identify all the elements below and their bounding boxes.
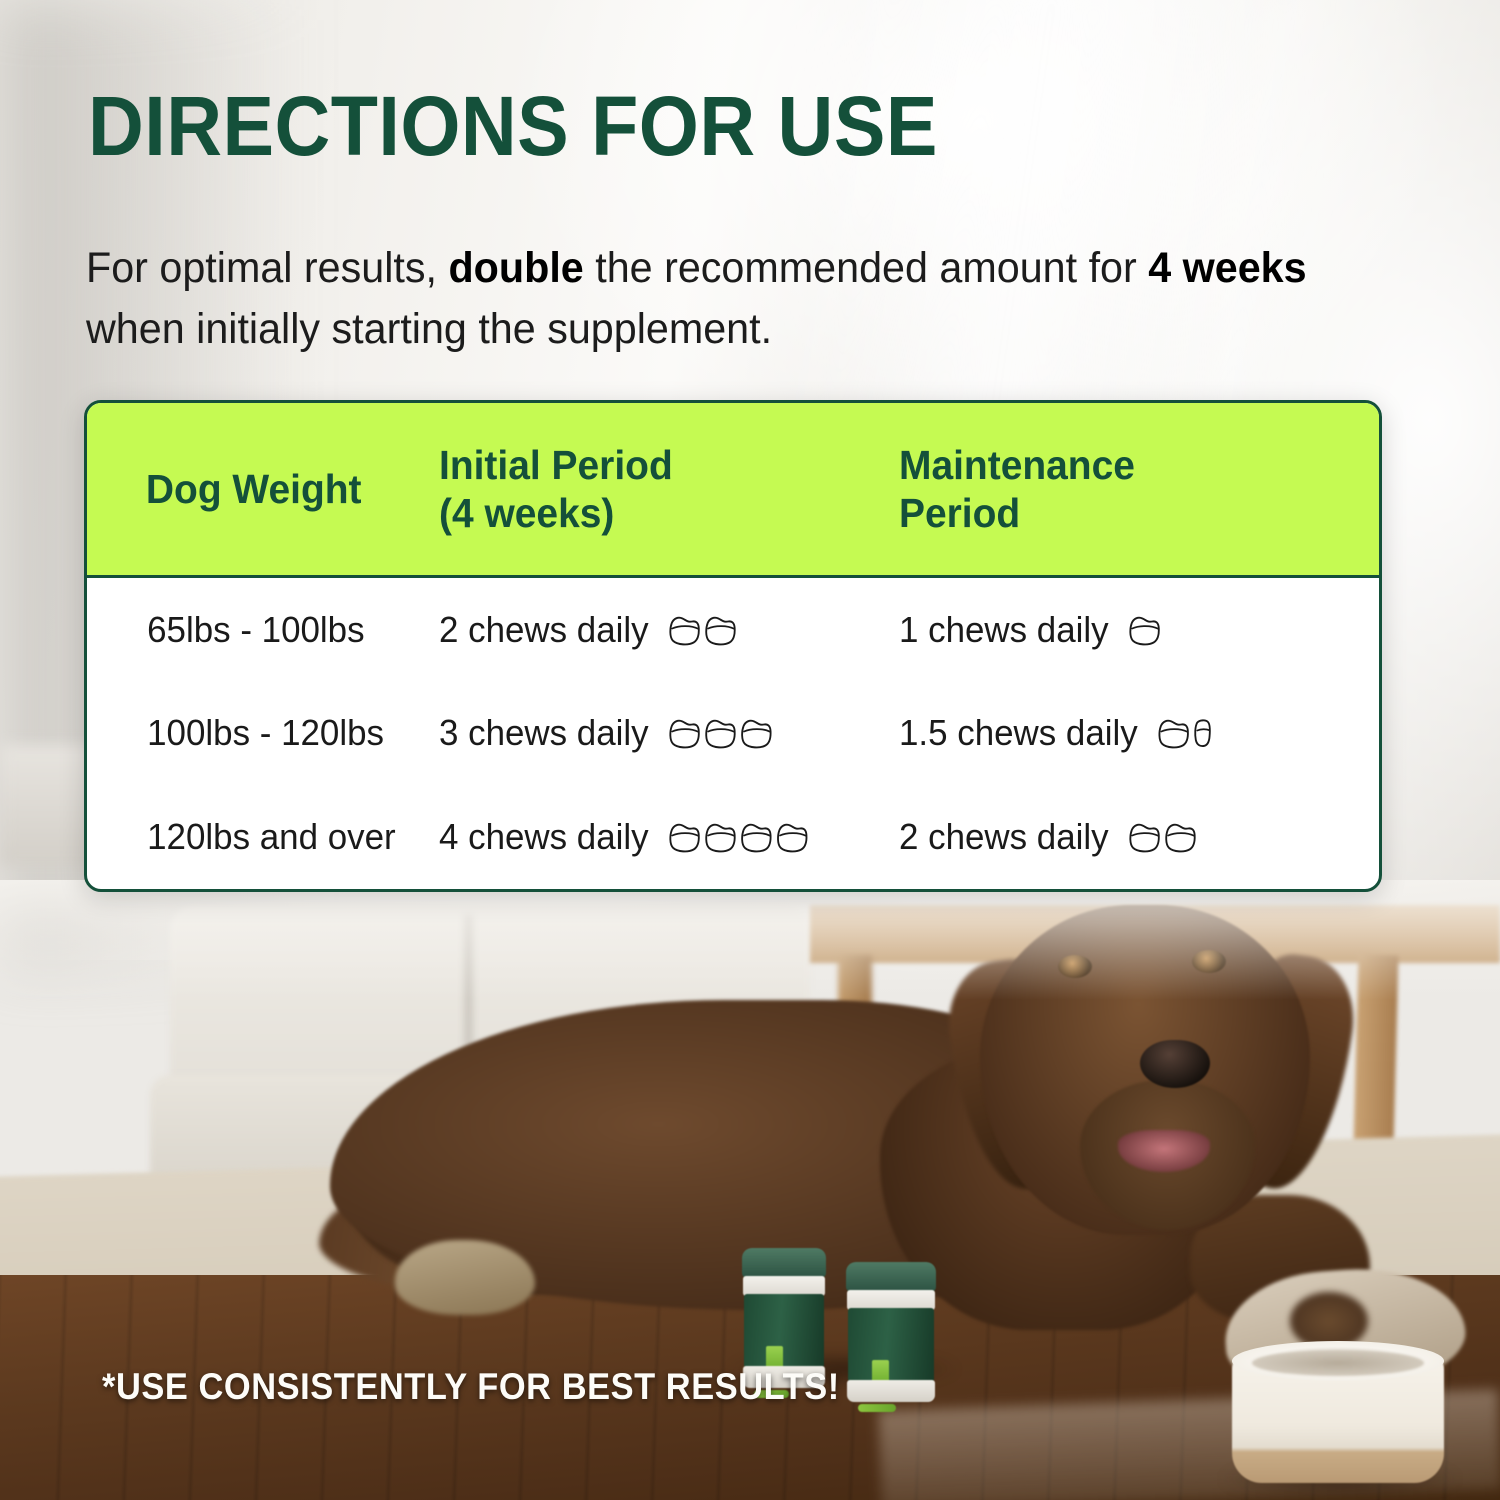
chew-icon xyxy=(740,821,773,853)
initial-dose-value: 4 chews daily xyxy=(439,816,649,858)
maintenance-dose-value: 1.5 chews daily xyxy=(899,712,1138,754)
cell-initial-period: 2 chews daily xyxy=(439,609,885,651)
cell-dog-weight: 120lbs and over xyxy=(87,816,428,858)
table-row: 100lbs - 120lbs3 chews daily1.5 chews da… xyxy=(87,682,1379,786)
chew-icon xyxy=(704,614,737,646)
dosage-table: Dog Weight Initial Period (4 weeks) Main… xyxy=(84,400,1382,892)
chew-icon-group xyxy=(668,614,737,646)
subtitle-segment: For optimal results, xyxy=(86,244,448,292)
chew-icon-group xyxy=(1157,717,1212,749)
table-header-row: Dog Weight Initial Period (4 weeks) Main… xyxy=(87,403,1379,578)
cell-initial-period: 4 chews daily xyxy=(439,816,885,858)
footer-caption: *USE CONSISTENTLY FOR BEST RESULTS! xyxy=(102,1366,840,1408)
subtitle-segment: the recommended amount for xyxy=(584,244,1148,292)
chew-icon-group xyxy=(668,717,773,749)
subtitle-emphasis-double: double xyxy=(448,244,583,292)
column-header-maintenance-period: Maintenance Period xyxy=(899,441,1355,538)
chew-icon xyxy=(776,821,809,853)
cell-maintenance-period: 1 chews daily xyxy=(899,609,1365,651)
dog-weight-value: 100lbs - 120lbs xyxy=(147,712,384,754)
cell-dog-weight: 65lbs - 100lbs xyxy=(87,609,428,651)
chew-icon-group xyxy=(668,821,809,853)
chew-icon-group xyxy=(1128,821,1197,853)
dog-weight-value: 65lbs - 100lbs xyxy=(147,609,364,651)
chew-icon xyxy=(1128,821,1161,853)
cell-maintenance-period: 1.5 chews daily xyxy=(899,712,1365,754)
page-title: DIRECTIONS FOR USE xyxy=(88,78,938,175)
dog-weight-value: 120lbs and over xyxy=(147,816,396,858)
chew-icon xyxy=(704,821,737,853)
table-body: 65lbs - 100lbs2 chews daily1 chews daily… xyxy=(87,578,1379,889)
instruction-subtitle: For optimal results, double the recommen… xyxy=(86,238,1324,360)
chew-icon xyxy=(1157,717,1190,749)
chew-icon xyxy=(704,717,737,749)
column-header-initial-period: Initial Period (4 weeks) xyxy=(439,441,876,538)
initial-dose-value: 2 chews daily xyxy=(439,609,649,651)
cell-maintenance-period: 2 chews daily xyxy=(899,816,1365,858)
chew-icon xyxy=(740,717,773,749)
column-header-line2: (4 weeks) xyxy=(439,489,876,537)
subtitle-segment: when initially starting the supplement. xyxy=(86,305,772,353)
column-header-line2: Period xyxy=(899,489,1355,537)
chew-icon-group xyxy=(1128,614,1161,646)
table-row: 120lbs and over4 chews daily2 chews dail… xyxy=(87,785,1379,889)
chew-icon xyxy=(1193,717,1212,749)
table-row: 65lbs - 100lbs2 chews daily1 chews daily xyxy=(87,578,1379,682)
infographic-content: DIRECTIONS FOR USE For optimal results, … xyxy=(0,0,1500,1500)
maintenance-dose-value: 2 chews daily xyxy=(899,816,1109,858)
subtitle-emphasis-weeks: 4 weeks xyxy=(1148,244,1306,292)
column-header-dog-weight: Dog Weight xyxy=(87,465,421,513)
chew-icon xyxy=(668,614,701,646)
maintenance-dose-value: 1 chews daily xyxy=(899,609,1109,651)
initial-dose-value: 3 chews daily xyxy=(439,712,649,754)
chew-icon xyxy=(668,717,701,749)
chew-icon xyxy=(668,821,701,853)
chew-icon xyxy=(1128,614,1161,646)
cell-dog-weight: 100lbs - 120lbs xyxy=(87,712,428,754)
column-header-line1: Initial Period xyxy=(439,441,876,489)
cell-initial-period: 3 chews daily xyxy=(439,712,885,754)
chew-icon xyxy=(1164,821,1197,853)
column-header-line1: Maintenance xyxy=(899,441,1355,489)
